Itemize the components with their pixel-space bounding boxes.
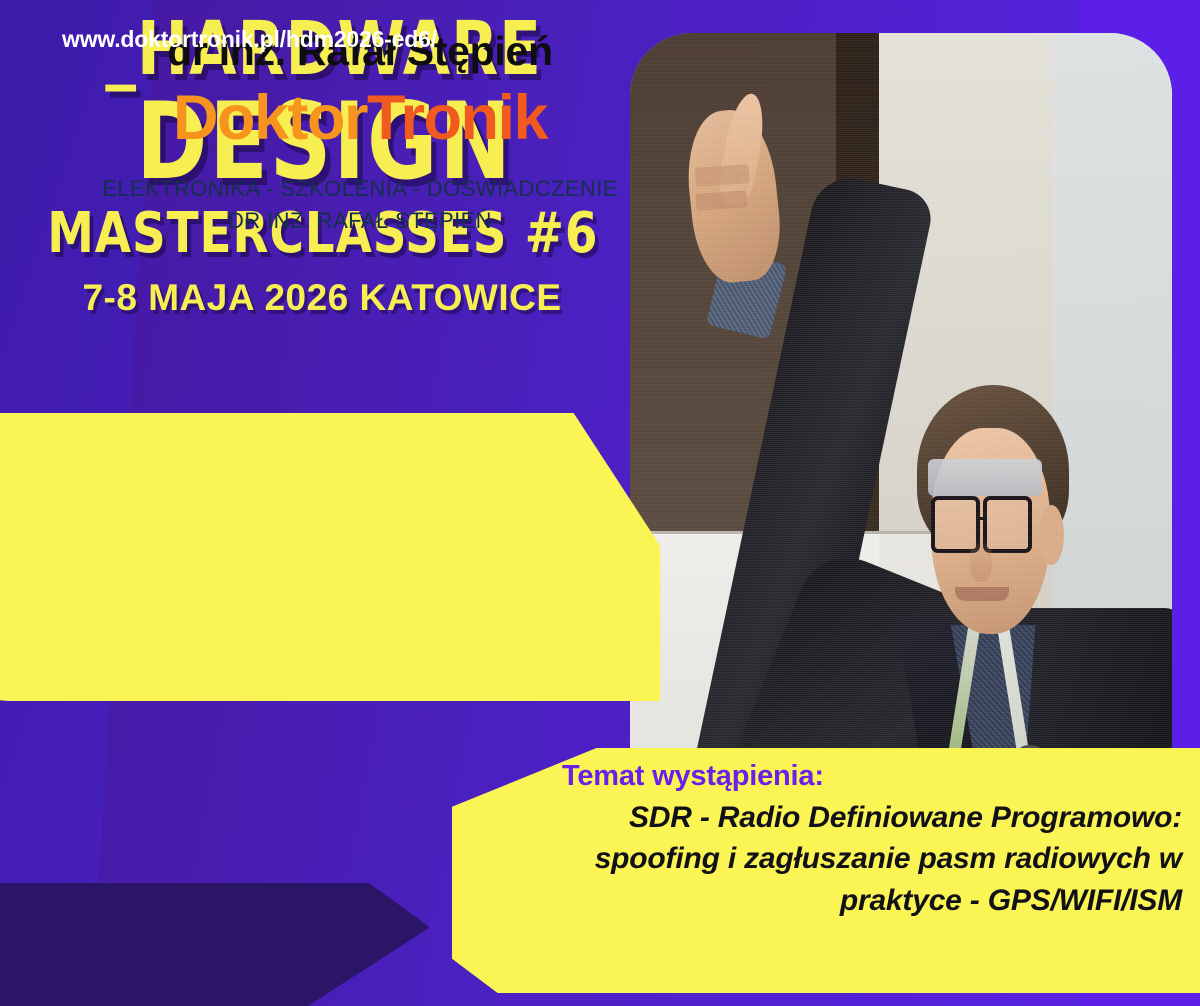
logo-tronik: Tronik xyxy=(367,83,547,153)
topic-line-1: SDR - Radio Definiowane Programowo: xyxy=(562,797,1182,838)
website-url[interactable]: www.doktortronik.pl/hdm2026-ed6/ xyxy=(62,26,437,53)
topic-card-content: Temat wystąpienia: SDR - Radio Definiowa… xyxy=(562,760,1182,921)
logo-doktor: Doktor xyxy=(173,83,367,153)
topic-line-3: praktyce - GPS/WIFI/ISM xyxy=(562,880,1182,921)
topic-line-2: spoofing i zagłuszanie pasm radiowych w xyxy=(562,838,1182,879)
poster-canvas: _HARDWARE DESIGN MASTERCLASSES #6 7-8 MA… xyxy=(0,0,1200,1006)
speaker-card xyxy=(0,413,660,701)
speaker-tagline-2: DR INŻ. RAFAŁ STĘPIEŃ xyxy=(228,208,492,234)
speaker-tagline-1: ELEKTRONIKA - SZKOLENIA - DOŚWIADCZENIE xyxy=(102,176,618,202)
topic-card: Temat wystąpienia: SDR - Radio Definiowa… xyxy=(452,748,1200,993)
doktortronik-logo: DoktorTronik xyxy=(173,87,547,150)
topic-label: Temat wystąpienia: xyxy=(562,760,1182,793)
